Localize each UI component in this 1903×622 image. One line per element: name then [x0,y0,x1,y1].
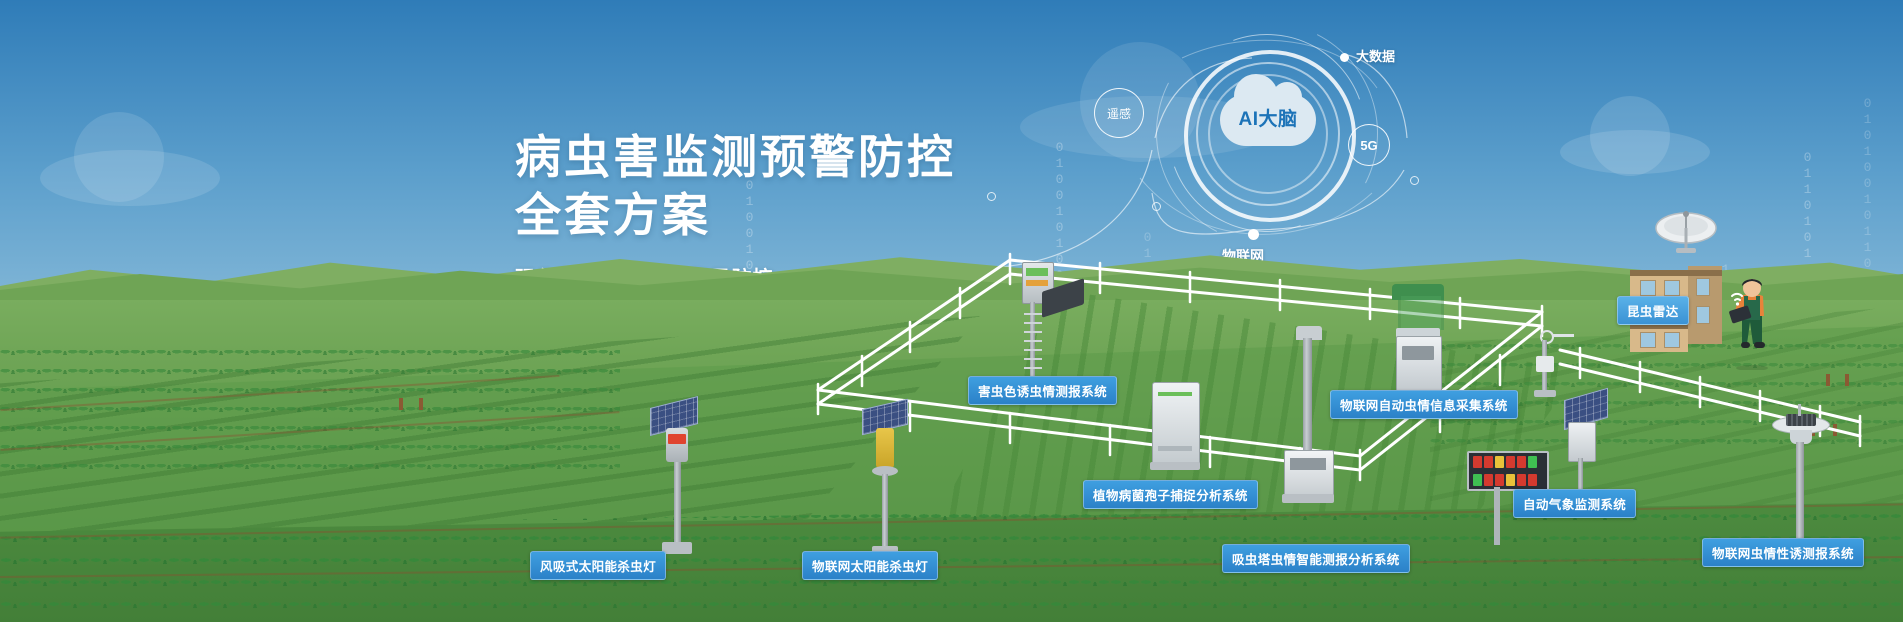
node-remote-sensing-label: 遥感 [1107,105,1131,122]
collector-screen [1402,346,1434,360]
building-roof-edge [1630,270,1722,276]
label-spore-capture-system[interactable]: 植物病菌孢子捕捉分析系统 [1083,480,1258,509]
lamp-base [662,542,692,554]
led-segment [1528,456,1537,468]
crop-plants-left [0,336,620,476]
led-segment [1528,474,1537,486]
connector-endpoint-dot [1410,176,1419,185]
led-board-post [1494,487,1500,545]
lamp-indicator [668,434,686,444]
led-segment [1484,474,1493,486]
pheromone-pole [1796,442,1804,546]
led-row [1469,471,1547,489]
trap-ladder [1024,312,1042,378]
ai-brain-label: AI大脑 [1220,104,1316,131]
trap-strip [1026,268,1048,276]
label-suction-tower-system[interactable]: 吸虫塔虫情智能测报分析系统 [1222,544,1410,573]
building-window [1640,332,1656,348]
led-segment [1484,456,1493,468]
cabinet-vent [1158,446,1192,451]
cabinet-accent [1158,392,1192,396]
label-color-trap-system[interactable]: 害虫色诱虫情测报系统 [968,376,1117,405]
lamp-tube [876,428,894,468]
cloud-decoration [40,150,220,206]
label-weather-station[interactable]: 自动气象监测系统 [1513,489,1636,518]
label-iot-pheromone-system[interactable]: 物联网虫情性诱测报系统 [1702,538,1864,567]
led-display-board [1467,451,1549,491]
banner-canvas: 01001011001010100101 0100101001101011001… [0,0,1903,622]
label-insect-radar[interactable]: 昆虫雷达 [1617,296,1689,325]
node-5g[interactable]: 5G [1348,124,1390,166]
led-segment [1495,474,1504,486]
building-window-side [1696,306,1710,324]
led-segment [1473,474,1482,486]
cabinet-base [1150,462,1200,470]
building-window-side [1696,278,1710,296]
building-window [1664,280,1680,296]
tower-pole [1303,338,1312,458]
cloud-decoration [1560,130,1710,174]
collector-body [1396,336,1442,394]
led-segment [1495,456,1504,468]
label-iot-pest-collector[interactable]: 物联网自动虫情信息采集系统 [1330,390,1518,419]
weather-controller [1568,422,1596,462]
connector-endpoint-dot [987,192,996,201]
node-bigdata-label: 大数据 [1356,46,1395,65]
ai-brain-cluster: AI大脑 遥感 5G 大数据 物联网 [1072,28,1492,258]
label-iot-solar-lamp[interactable]: 物联网太阳能杀虫灯 [802,551,938,580]
field-worker [1720,270,1784,370]
lamp-pole [882,474,888,550]
node-bigdata-dot [1340,53,1349,62]
building-window [1664,332,1680,348]
trap-strip [1026,280,1048,286]
weather-base [1534,390,1556,397]
tower-panel [1290,458,1326,470]
pheromone-grid [1786,414,1816,426]
tree [410,372,432,410]
node-remote-sensing[interactable]: 遥感 [1094,88,1144,138]
connector-endpoint-dot [1152,202,1161,211]
collector-louvers [1398,296,1444,330]
pheromone-antenna [1798,404,1801,416]
led-segment [1506,456,1515,468]
building-window [1640,280,1656,296]
tower-base [1282,494,1334,503]
led-segment [1473,456,1482,468]
led-segment [1517,474,1526,486]
node-iot-dot [1248,229,1259,240]
led-row [1469,453,1547,471]
insect-radar-dish [1646,198,1726,258]
node-5g-label: 5G [1360,138,1377,153]
label-wind-solar-lamp[interactable]: 风吸式太阳能杀虫灯 [530,551,666,580]
led-segment [1517,456,1526,468]
led-segment [1506,474,1515,486]
wind-vane [1552,334,1574,337]
lamp-pole [674,462,681,546]
sensor-box [1536,356,1554,372]
